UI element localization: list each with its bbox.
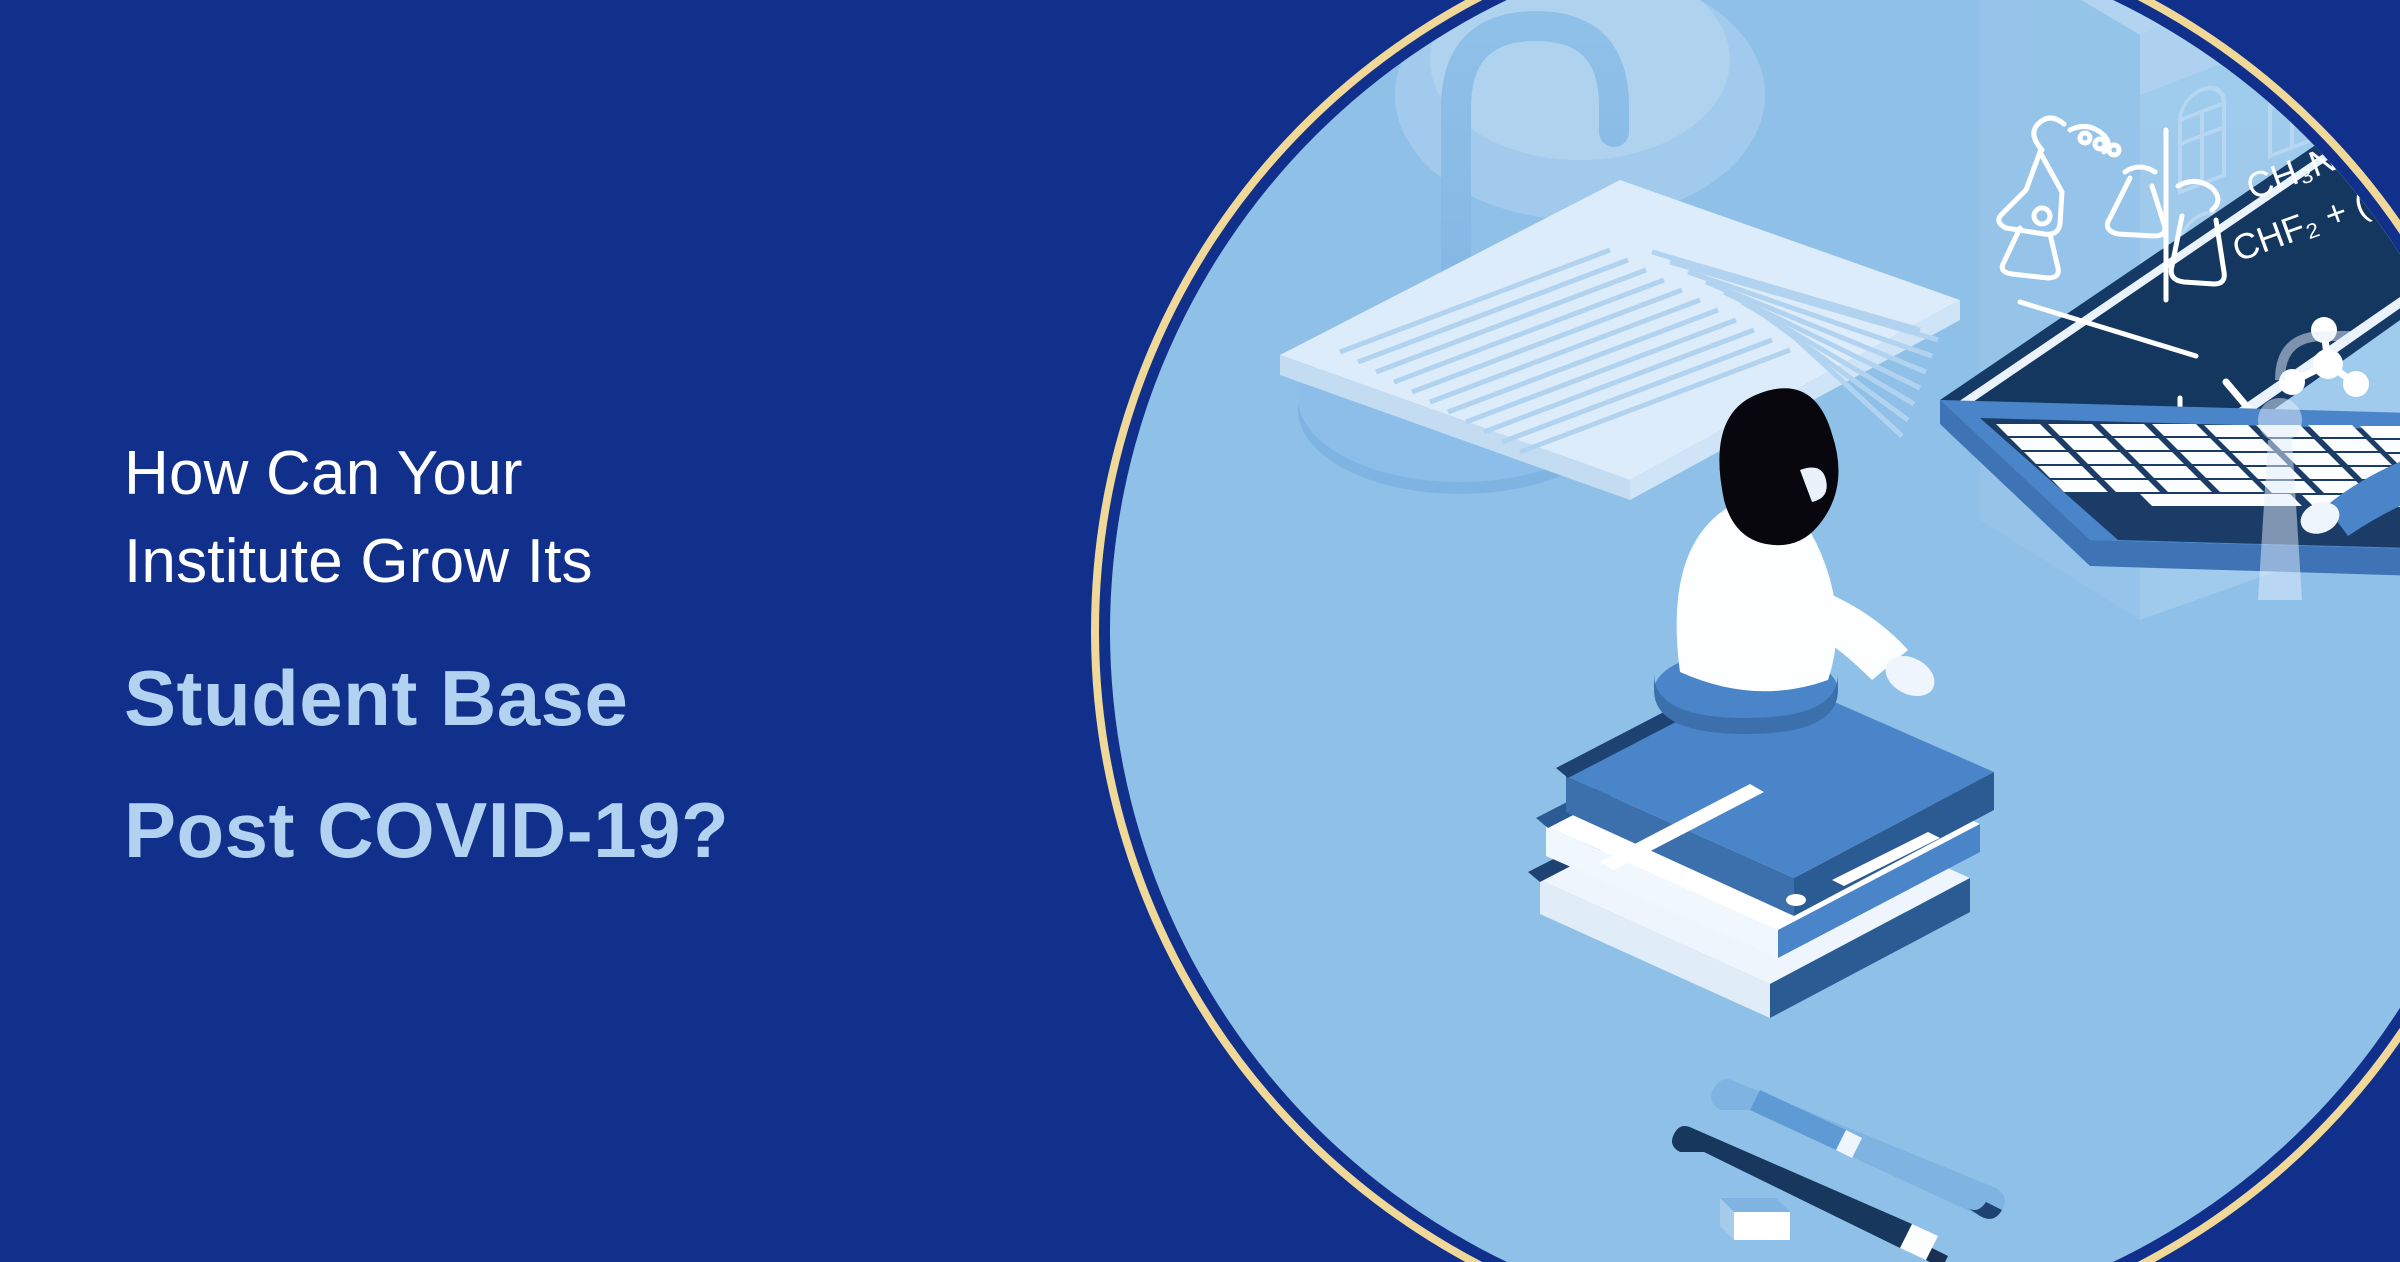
promo-banner: CH₃N₂ + F₂ ⇒ CHF₂ + (NH₃)↑ [0,0,2400,1262]
student-hair [1719,388,1838,545]
headline-line-2: Institute Grow Its [124,518,1124,606]
eraser [1720,1198,1790,1240]
illustration-svg: CH₃N₂ + F₂ ⇒ CHF₂ + (NH₃)↑ [980,0,2400,1262]
headline-line-3: Student Base [124,632,1124,764]
headline-spacer [124,606,1124,632]
headline-line-4: Post COVID-19? [124,764,1124,896]
headline-block: How Can Your Institute Grow Its Student … [124,430,1124,896]
headline-line-1: How Can Your [124,430,1124,518]
illustration-panel: CH₃N₂ + F₂ ⇒ CHF₂ + (NH₃)↑ [980,0,2400,1262]
